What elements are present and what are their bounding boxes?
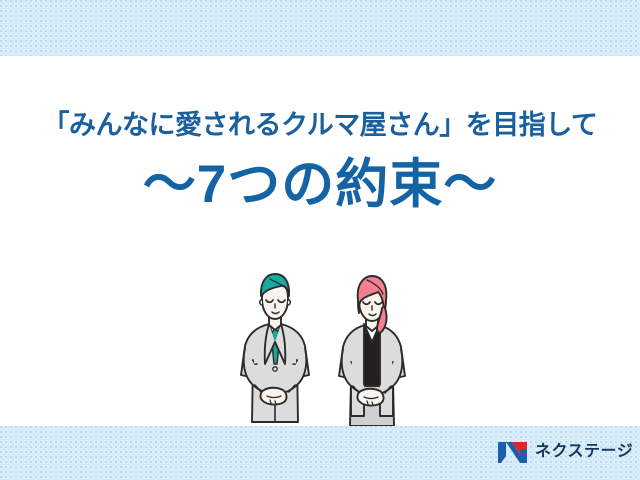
nextage-logo: ネクステージ xyxy=(498,437,630,467)
slide-root: 「みんなに愛されるクルマ屋さん」を目指して 〜7つの約束〜 xyxy=(0,0,640,480)
nextage-logo-text: ネクステージ xyxy=(535,444,633,460)
headline-block: 「みんなに愛されるクルマ屋さん」を目指して 〜7つの約束〜 xyxy=(0,110,640,215)
top-dotted-band xyxy=(0,0,640,56)
headline-line-1: 「みんなに愛されるクルマ屋さん」を目指して xyxy=(0,110,640,142)
nextage-n-mark-icon xyxy=(498,441,528,464)
bowing-staff-illustration xyxy=(236,272,426,430)
female-staff-figure xyxy=(339,276,405,426)
male-staff-figure xyxy=(241,274,309,422)
headline-line-2: 〜7つの約束〜 xyxy=(0,154,640,215)
staff-illustration-svg xyxy=(236,272,426,430)
